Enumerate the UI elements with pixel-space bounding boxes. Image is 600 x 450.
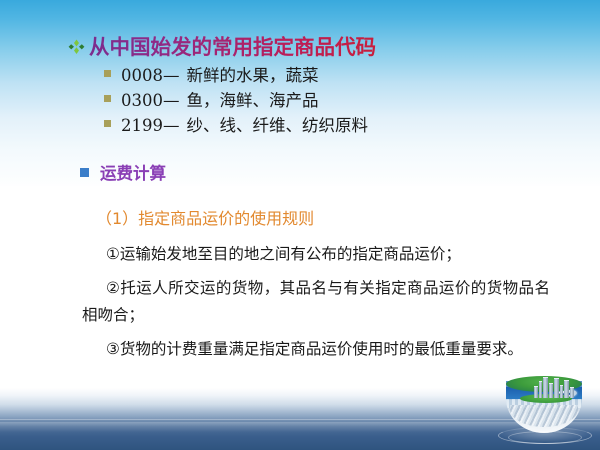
globe-ice-texture bbox=[510, 405, 578, 427]
page-title-text: 从中国始发的常用指定商品代码 bbox=[89, 30, 376, 60]
city-skyline bbox=[532, 376, 576, 398]
building bbox=[570, 387, 574, 398]
subheading-text: （1）指定商品运价的使用规则 bbox=[96, 205, 314, 229]
commodity-code: 0300— bbox=[121, 91, 180, 110]
paragraph: ③货物的计费重量满足指定商品运价使用时的最低重量要求。 bbox=[82, 336, 550, 363]
commodity-label: 鱼，海鲜、海产品 bbox=[187, 87, 319, 111]
building bbox=[543, 377, 548, 398]
building bbox=[560, 385, 563, 398]
small-square-bullet-icon bbox=[104, 120, 111, 127]
small-square-bullet-icon bbox=[104, 95, 111, 102]
building bbox=[539, 381, 542, 398]
slide-canvas: 从中国始发的常用指定商品代码 0008— 新鲜的水果，蔬菜 0300— 鱼，海鲜… bbox=[0, 0, 600, 450]
globe-city-graphic bbox=[498, 365, 590, 445]
section-heading: 运费计算 bbox=[80, 160, 166, 184]
building bbox=[549, 383, 553, 398]
diamond-bullet-icon bbox=[68, 38, 85, 55]
building bbox=[564, 380, 569, 398]
globe-reflection-ring-inner bbox=[508, 431, 582, 444]
section-heading-text: 运费计算 bbox=[100, 160, 166, 184]
commodity-label: 新鲜的水果，蔬菜 bbox=[187, 62, 319, 86]
paragraph: ①运输始发地至目的地之间有公布的指定商品运价； bbox=[82, 241, 550, 268]
building bbox=[554, 378, 559, 398]
small-square-bullet-icon bbox=[104, 70, 111, 77]
globe-land-top bbox=[506, 376, 582, 392]
body-paragraphs: ①运输始发地至目的地之间有公布的指定商品运价； ②托运人所交运的货物，其品名与有… bbox=[82, 241, 550, 370]
commodity-code: 0008— bbox=[121, 66, 180, 85]
list-item: 0008— 新鲜的水果，蔬菜 bbox=[104, 62, 368, 87]
commodity-label: 纱、线、纤维、纺织原料 bbox=[187, 112, 369, 136]
list-item: 0300— 鱼，海鲜、海产品 bbox=[104, 87, 368, 112]
building bbox=[534, 386, 538, 398]
paragraph: ②托运人所交运的货物，其品名与有关指定商品运价的货物品名相吻合； bbox=[82, 275, 550, 329]
list-item: 2199— 纱、线、纤维、纺织原料 bbox=[104, 112, 368, 137]
square-bullet-icon bbox=[80, 168, 89, 177]
commodity-code-list: 0008— 新鲜的水果，蔬菜 0300— 鱼，海鲜、海产品 2199— 纱、线、… bbox=[104, 62, 368, 137]
slide-content: 从中国始发的常用指定商品代码 0008— 新鲜的水果，蔬菜 0300— 鱼，海鲜… bbox=[0, 0, 600, 450]
commodity-code: 2199— bbox=[121, 116, 180, 135]
page-title: 从中国始发的常用指定商品代码 bbox=[68, 30, 376, 60]
